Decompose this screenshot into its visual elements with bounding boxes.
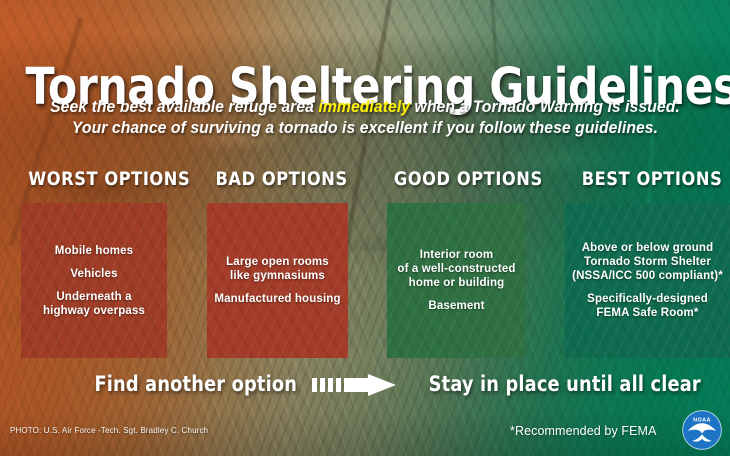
- subtitle-line-1-post: when a Tornado Warning is issued.: [410, 98, 680, 116]
- page-subtitle: Seek the best available refuge area imme…: [18, 97, 712, 139]
- option-box-bad: Large open rooms like gymnasiums Manufac…: [207, 203, 348, 358]
- column-heading-best: BEST OPTIONS: [582, 167, 723, 191]
- action-row: Find another option Stay in place until …: [0, 370, 730, 404]
- option-item: Interior room of a well-constructed home…: [393, 248, 520, 290]
- option-item: Large open rooms like gymnasiums: [213, 255, 342, 283]
- noaa-logo-icon: NOAA: [681, 409, 723, 451]
- column-heading-worst: WORST OPTIONS: [28, 167, 190, 191]
- action-label-right: Stay in place until all clear: [429, 370, 701, 398]
- subtitle-line-1-pre: Seek the best available refuge area: [50, 98, 318, 116]
- option-item: Mobile homes: [27, 244, 161, 258]
- option-item: Vehicles: [27, 267, 161, 281]
- fema-footnote: *Recommended by FEMA: [510, 424, 657, 439]
- option-box-good: Interior room of a well-constructed home…: [387, 203, 526, 358]
- column-headings: WORST OPTIONS BAD OPTIONS GOOD OPTIONS B…: [0, 167, 730, 195]
- option-boxes: Mobile homes Vehicles Underneath a highw…: [0, 203, 730, 358]
- column-heading-bad: BAD OPTIONS: [215, 167, 347, 191]
- column-heading-good: GOOD OPTIONS: [394, 167, 543, 191]
- subtitle-line-2: Your chance of surviving a tornado is ex…: [18, 118, 712, 139]
- svg-text:NOAA: NOAA: [693, 418, 711, 424]
- right-arrow-icon: [312, 374, 396, 396]
- option-item: Underneath a highway overpass: [27, 290, 161, 318]
- option-item: Specifically-designed FEMA Safe Room*: [571, 292, 724, 320]
- option-box-worst: Mobile homes Vehicles Underneath a highw…: [21, 203, 167, 358]
- photo-credit: PHOTO: U.S. Air Force -Tech. Sgt. Bradle…: [10, 426, 208, 436]
- subtitle-line-1: Seek the best available refuge area imme…: [18, 97, 712, 118]
- option-item: Manufactured housing: [213, 292, 342, 306]
- option-item: Above or below ground Tornado Storm Shel…: [571, 241, 724, 283]
- infographic-poster: Tornado Sheltering Guidelines Seek the b…: [0, 0, 730, 456]
- option-item: Basement: [393, 299, 520, 313]
- option-box-best: Above or below ground Tornado Storm Shel…: [565, 203, 730, 358]
- action-label-left: Find another option: [94, 370, 297, 398]
- subtitle-highlight: immediately: [318, 98, 410, 116]
